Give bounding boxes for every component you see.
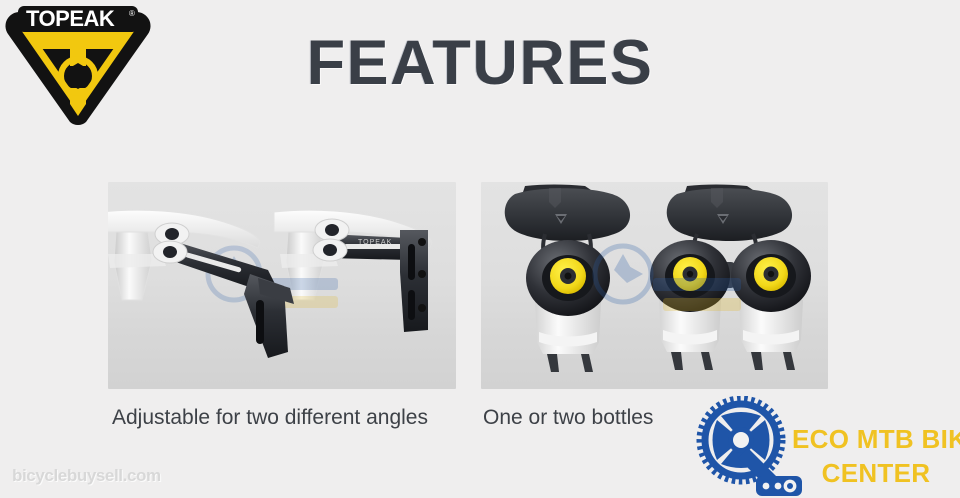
clamp-left xyxy=(153,223,189,263)
chainring-crank-icon xyxy=(694,396,802,496)
bracket-horizontal: TOPEAK xyxy=(313,219,428,332)
eco-mtb-bike-center-logo: ECO MTB BIKE CENTER xyxy=(694,396,960,498)
caption-one-or-two-bottles: One or two bottles xyxy=(483,406,653,430)
saddle-double xyxy=(667,185,792,242)
caption-adjustable-angles: Adjustable for two different angles xyxy=(112,406,428,430)
feature-image-bottles xyxy=(481,182,828,389)
bottle-3 xyxy=(731,240,811,370)
bracket-branding: TOPEAK xyxy=(358,239,392,246)
brand-line-2: CENTER xyxy=(792,456,960,490)
bottle-cage-illustration xyxy=(481,182,828,389)
saddle-single xyxy=(505,185,630,242)
topeak-wordmark: TOPEAK xyxy=(26,6,115,31)
saddle-bracket-illustration: TOPEAK xyxy=(108,182,456,389)
brand-line-1: ECO MTB BIKE xyxy=(792,422,960,456)
topeak-registered-mark: ® xyxy=(129,9,135,18)
feature-image-angles: TOPEAK xyxy=(108,182,456,389)
brand-text: ECO MTB BIKE CENTER xyxy=(792,404,960,490)
bracket-angled xyxy=(153,223,294,358)
page-title: FEATURES xyxy=(0,32,960,95)
site-watermark: bicyclebuysell.com xyxy=(12,466,161,486)
